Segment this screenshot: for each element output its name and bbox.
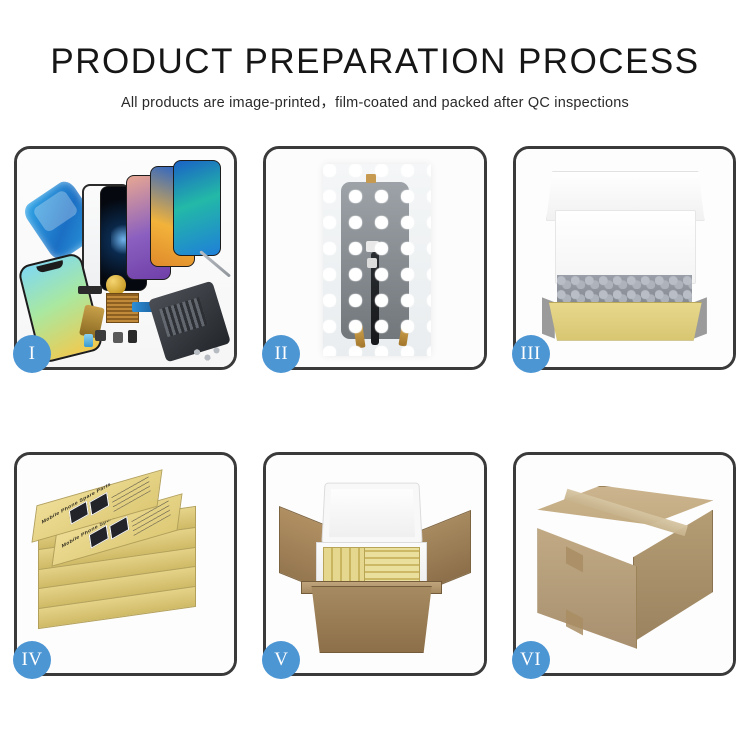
process-step-card-2: II xyxy=(263,146,486,370)
step-1-image xyxy=(17,149,234,367)
box-stack: Mobile Phone Spare Parts Mobile Phone Sp… xyxy=(26,481,226,660)
step-3-image xyxy=(516,149,733,367)
foam-box-lid-icon xyxy=(321,483,422,545)
step-badge-5: V xyxy=(262,641,300,679)
small-part-icon-2 xyxy=(113,332,124,343)
process-step-card-6: VI xyxy=(513,452,736,676)
screws-icon xyxy=(191,345,221,362)
small-part-icon-4 xyxy=(84,334,93,347)
process-step-card-5: V xyxy=(263,452,486,676)
page-header: PRODUCT PREPARATION PROCESS All products… xyxy=(0,0,750,112)
step-2-image xyxy=(266,149,483,367)
step-5-image xyxy=(266,455,483,673)
process-step-grid: I II xyxy=(14,146,736,676)
box-spec-lines-1 xyxy=(111,475,151,512)
step-badge-4: IV xyxy=(13,641,51,679)
carton-front-face xyxy=(537,520,637,648)
kraft-box-body-icon xyxy=(544,302,707,341)
bubble-texture xyxy=(323,164,432,356)
bubble-wrap-fill-icon xyxy=(557,275,692,306)
process-step-card-4: Mobile Phone Spare Parts Mobile Phone Sp… xyxy=(14,452,237,676)
step-badge-1: I xyxy=(13,335,51,373)
process-step-card-3: III xyxy=(513,146,736,370)
process-step-card-1: I xyxy=(14,146,237,370)
small-part-icon-1 xyxy=(95,330,106,341)
page-title: PRODUCT PREPARATION PROCESS xyxy=(0,0,750,81)
phone-screen-icon-4 xyxy=(173,160,221,256)
speaker-bar-icon xyxy=(78,286,102,294)
step-badge-2: II xyxy=(262,335,300,373)
step-badge-3: III xyxy=(512,335,550,373)
product-preparation-page: PRODUCT PREPARATION PROCESS All products… xyxy=(0,0,750,750)
bubble-bag-icon xyxy=(323,164,432,356)
foam-sheet-icon xyxy=(555,210,696,284)
step-badge-6: VI xyxy=(512,641,550,679)
small-part-icon-3 xyxy=(128,330,137,343)
step-4-image: Mobile Phone Spare Parts Mobile Phone Sp… xyxy=(17,455,234,673)
carton-front-icon xyxy=(303,586,440,653)
step-6-image xyxy=(516,455,733,673)
packed-boxes-row-2 xyxy=(364,547,420,586)
page-subtitle: All products are image-printed，film-coat… xyxy=(0,81,750,112)
